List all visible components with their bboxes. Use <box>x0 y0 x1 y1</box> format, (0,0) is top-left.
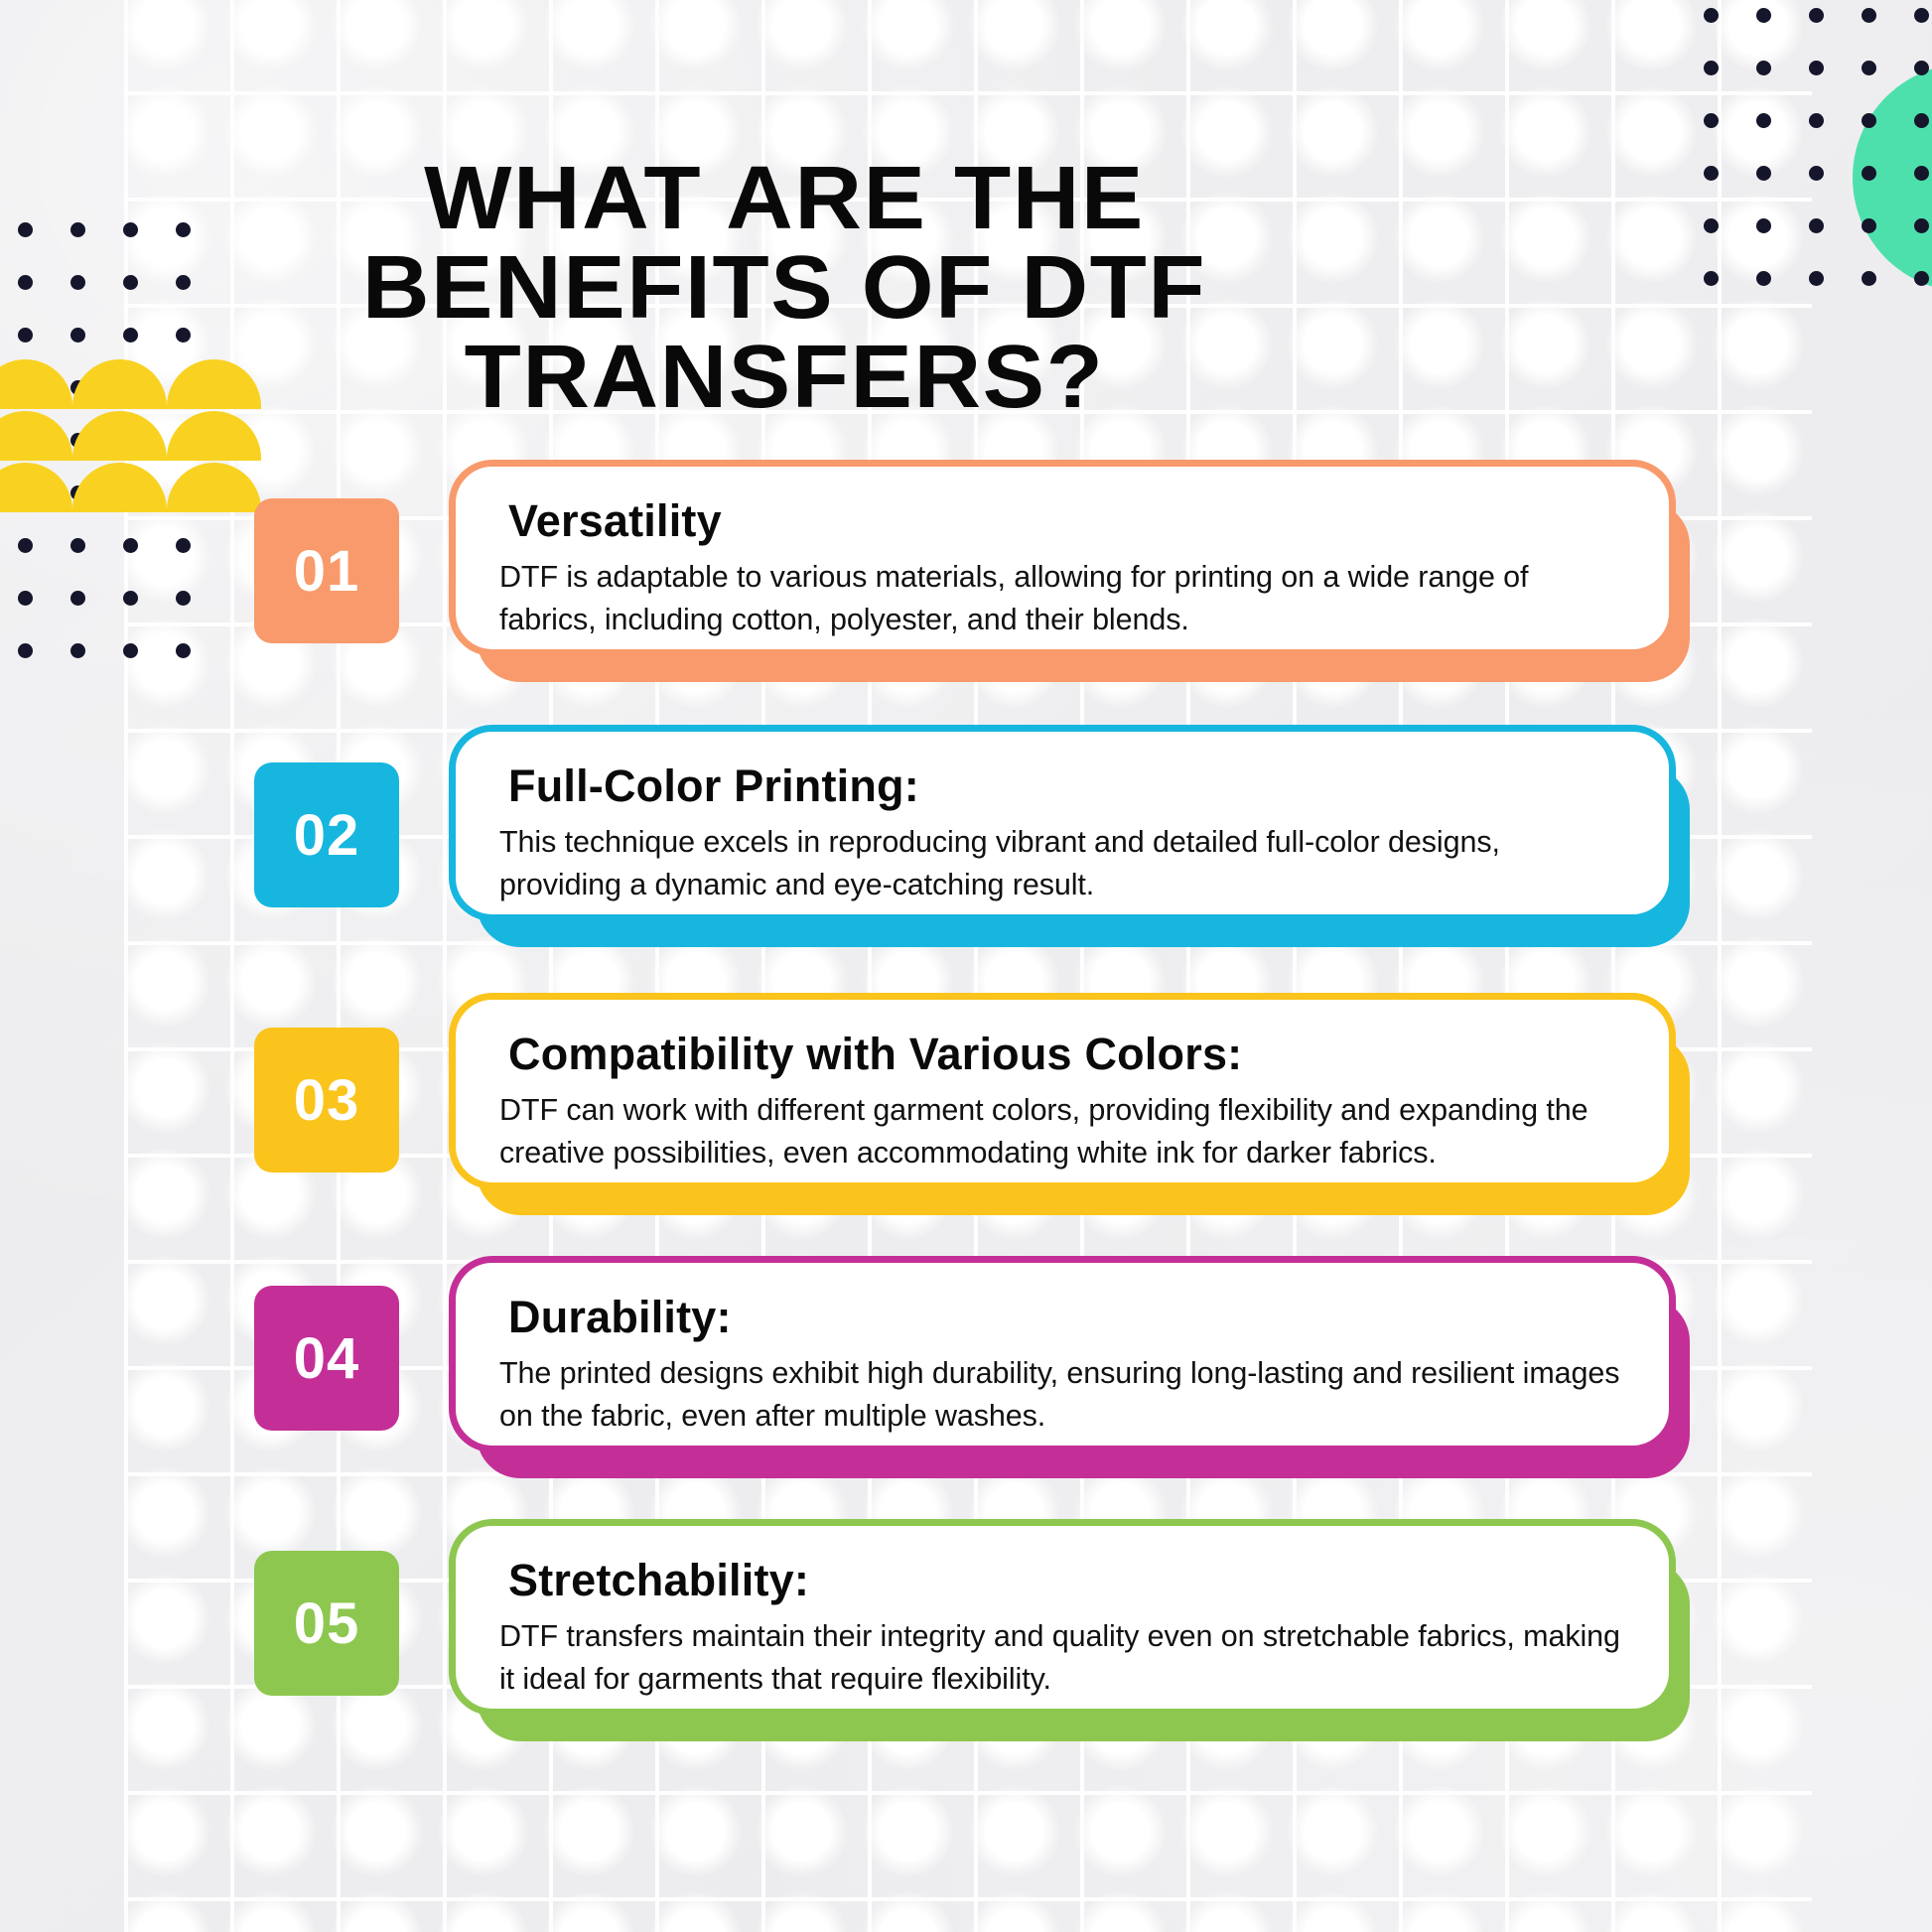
benefit-body: DTF can work with different garment colo… <box>499 1089 1625 1175</box>
decor-dot <box>1809 271 1824 286</box>
benefit-number-badge-05: 05 <box>254 1551 399 1696</box>
benefit-number-badge-02: 02 <box>254 762 399 907</box>
decor-dot <box>1914 113 1929 128</box>
benefit-body: DTF is adaptable to various materials, a… <box>499 556 1625 642</box>
benefit-body: DTF transfers maintain their integrity a… <box>499 1615 1625 1702</box>
decor-dot <box>1809 166 1824 181</box>
decor-dot <box>1862 61 1876 75</box>
decor-dot <box>18 222 33 237</box>
benefit-card-01: VersatilityDTF is adaptable to various m… <box>449 460 1676 656</box>
page-title-line-2: TRANSFERS? <box>201 333 1367 422</box>
benefit-card-03: Compatibility with Various Colors:DTF ca… <box>449 993 1676 1189</box>
benefit-number-label: 01 <box>294 538 360 605</box>
benefit-heading: Full-Color Printing: <box>508 761 1625 811</box>
benefit-number-badge-01: 01 <box>254 498 399 643</box>
decor-dot <box>1704 61 1719 75</box>
decor-dot <box>1704 113 1719 128</box>
benefit-heading: Versatility <box>508 496 1625 546</box>
benefit-heading: Stretchability: <box>508 1556 1625 1605</box>
decor-dot <box>1809 8 1824 23</box>
decor-dot <box>70 643 85 658</box>
benefit-heading: Compatibility with Various Colors: <box>508 1030 1625 1079</box>
decor-dot <box>1756 8 1771 23</box>
decor-dot <box>70 222 85 237</box>
decor-dot <box>176 643 191 658</box>
benefit-number-label: 02 <box>294 802 360 869</box>
benefit-card-02: Full-Color Printing:This technique excel… <box>449 725 1676 921</box>
decor-dot <box>18 328 33 343</box>
benefit-card-04: Durability:The printed designs exhibit h… <box>449 1256 1676 1452</box>
benefit-number-badge-03: 03 <box>254 1028 399 1173</box>
decor-dot <box>123 222 138 237</box>
decor-dot <box>1704 166 1719 181</box>
decor-dot <box>70 275 85 290</box>
decor-dot <box>1862 166 1876 181</box>
page-title-line-1: WHAT ARE THE BENEFITS OF DTF <box>201 154 1367 333</box>
decor-dot <box>1756 271 1771 286</box>
decor-dot <box>1809 113 1824 128</box>
decor-dot <box>176 538 191 553</box>
decor-dot <box>18 275 33 290</box>
decor-dot <box>70 328 85 343</box>
decor-dot <box>123 275 138 290</box>
decor-dot <box>70 591 85 606</box>
decor-dot <box>123 328 138 343</box>
decor-dot <box>1756 61 1771 75</box>
benefit-card-05: Stretchability:DTF transfers maintain th… <box>449 1519 1676 1716</box>
decor-dot <box>123 643 138 658</box>
decor-dot <box>1862 113 1876 128</box>
decor-dot <box>18 643 33 658</box>
decor-dot <box>1862 8 1876 23</box>
benefit-body: The printed designs exhibit high durabil… <box>499 1352 1625 1439</box>
decor-dot <box>1704 271 1719 286</box>
benefit-number-badge-04: 04 <box>254 1286 399 1431</box>
decor-dot <box>1809 218 1824 233</box>
decor-dot <box>1809 61 1824 75</box>
benefit-number-label: 05 <box>294 1590 360 1657</box>
benefit-number-label: 03 <box>294 1067 360 1134</box>
benefit-heading: Durability: <box>508 1293 1625 1342</box>
decor-dot <box>1914 8 1929 23</box>
decor-dot <box>1914 218 1929 233</box>
benefit-number-label: 04 <box>294 1325 360 1392</box>
decor-dot <box>18 591 33 606</box>
decor-dot <box>176 275 191 290</box>
decor-dot <box>1756 166 1771 181</box>
decor-dot <box>1704 218 1719 233</box>
page-title: WHAT ARE THE BENEFITS OF DTF TRANSFERS? <box>201 154 1367 422</box>
decor-dot <box>1914 61 1929 75</box>
decor-dot <box>1756 218 1771 233</box>
decor-dot <box>1862 218 1876 233</box>
decor-dot <box>1914 271 1929 286</box>
decor-dot <box>70 538 85 553</box>
decor-dot <box>1914 166 1929 181</box>
decor-dot <box>176 591 191 606</box>
decor-dot <box>176 222 191 237</box>
decor-dot <box>1862 271 1876 286</box>
decor-dot <box>123 538 138 553</box>
decor-dot <box>123 591 138 606</box>
decor-dot <box>1704 8 1719 23</box>
decor-dot <box>176 328 191 343</box>
decor-dot <box>1756 113 1771 128</box>
benefit-body: This technique excels in reproducing vib… <box>499 821 1625 907</box>
decor-dot <box>18 538 33 553</box>
